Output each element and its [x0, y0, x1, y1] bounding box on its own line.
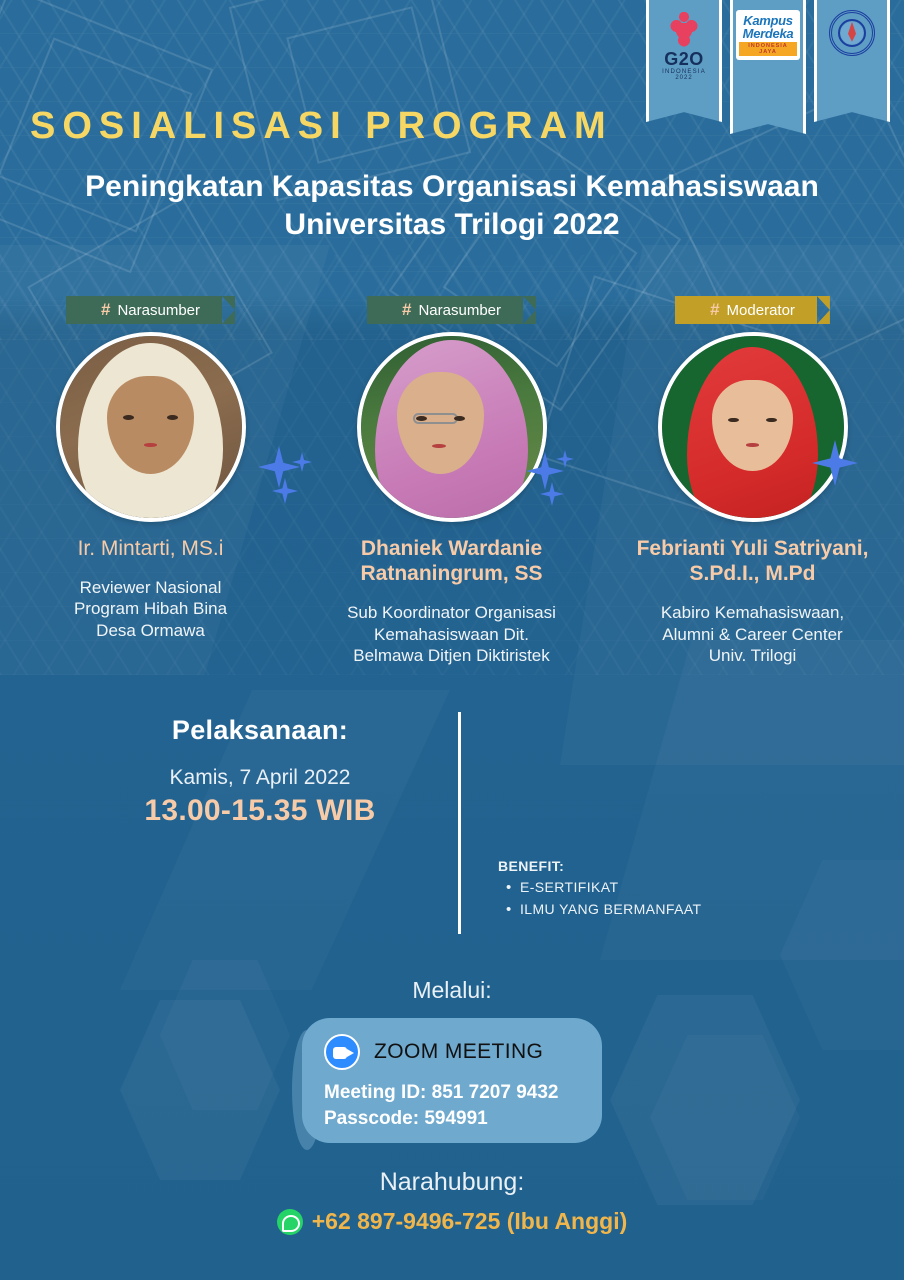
logo-ribbons: G2O INDONESIA 2022 Kampus Merdeka INDONE…	[646, 0, 904, 118]
eye-right	[766, 418, 776, 423]
schedule-date: Kamis, 7 April 2022	[60, 766, 460, 790]
speaker-1-role: Reviewer Nasional Program Hibah Bina Des…	[62, 577, 239, 641]
speaker-1-avatar	[56, 332, 246, 522]
zoom-meeting-details: Meeting ID: 851 7207 9432 Passcode: 5949…	[324, 1080, 582, 1131]
schedule-heading: Pelaksanaan:	[60, 715, 460, 746]
universitas-trilogi-seal-icon	[829, 10, 875, 56]
contact-phone-number[interactable]: +62 897-9496-725 (Ibu Anggi)	[312, 1208, 628, 1235]
page-subtitle-line1: Peningkatan Kapasitas Organisasi Kemahas…	[14, 168, 890, 206]
speaker-2-role-line2: Kemahasiswaan Dit.	[347, 624, 556, 645]
g20-logo: G2O INDONESIA 2022	[662, 10, 706, 81]
hash-icon: #	[710, 300, 719, 320]
benefit-section: BENEFIT: E-SERTIFIKAT ILMU YANG BERMANFA…	[498, 858, 701, 920]
speaker-card-2: # Narasumber Dhaniek Wardanie Ratnaningr…	[301, 296, 602, 666]
zoom-meeting-card[interactable]: ZOOM MEETING Meeting ID: 851 7207 9432 P…	[302, 1018, 602, 1143]
page-subtitle-line2: Universitas Trilogi 2022	[14, 206, 890, 244]
eye-left	[728, 418, 738, 423]
speaker-2-role-line3: Belmawa Ditjen Diktiristek	[347, 645, 556, 666]
speaker-2-name: Dhaniek Wardanie Ratnaningrum, SS	[350, 536, 552, 586]
kampus-merdeka-ribbon: Kampus Merdeka INDONESIA JAYA	[730, 0, 806, 112]
speaker-3-badge: # Moderator	[688, 296, 817, 324]
speaker-1-role-line1: Reviewer Nasional	[74, 577, 227, 598]
speaker-2-name-line1: Dhaniek Wardanie	[360, 536, 542, 561]
speaker-2-avatar	[357, 332, 547, 522]
page-title: SOSIALISASI PROGRAM	[30, 105, 650, 148]
benefit-item: E-SERTIFIKAT	[498, 877, 701, 899]
speaker-3-role-line2: Alumni & Career Center	[661, 624, 844, 645]
speaker-3-name-line1: Febrianti Yuli Satriyani,	[637, 536, 869, 561]
benefit-item: ILMU YANG BERMANFAAT	[498, 899, 701, 921]
lips-shape	[144, 443, 158, 447]
speaker-2-photo	[361, 336, 543, 518]
speaker-3-role-line1: Kabiro Kemahasiswaan,	[661, 602, 844, 623]
vertical-divider	[458, 712, 461, 934]
speaker-1-photo	[60, 336, 242, 518]
eye-left	[123, 415, 134, 420]
platform-heading: Melalui:	[0, 977, 904, 1004]
schedule-section: Pelaksanaan: Kamis, 7 April 2022 13.00-1…	[60, 715, 460, 828]
speaker-3-name-line2: S.Pd.I., M.Pd	[637, 561, 869, 586]
g20-ribbon: G2O INDONESIA 2022	[646, 0, 722, 100]
zoom-platform-label: ZOOM MEETING	[374, 1040, 543, 1064]
speaker-2-name-line2: Ratnaningrum, SS	[360, 561, 542, 586]
speaker-1-role-line2: Program Hibah Bina	[74, 598, 227, 619]
trilogi-ribbon	[814, 0, 890, 100]
speaker-2-role-line1: Sub Koordinator Organisasi	[347, 602, 556, 623]
speaker-1-badge-label: Narasumber	[117, 302, 200, 319]
speaker-3-role: Kabiro Kemahasiswaan, Alumni & Career Ce…	[649, 602, 856, 666]
speaker-3-avatar	[658, 332, 848, 522]
zoom-meeting-id[interactable]: Meeting ID: 851 7207 9432	[324, 1080, 582, 1106]
hash-icon: #	[101, 300, 110, 320]
kampus-merdeka-tagline: INDONESIA JAYA	[739, 42, 797, 56]
speaker-2-role: Sub Koordinator Organisasi Kemahasiswaan…	[335, 602, 568, 666]
speaker-card-3: # Moderator Febrianti Yuli Satriyani, S.…	[602, 296, 903, 666]
speaker-2-badge: # Narasumber	[380, 296, 523, 324]
g20-motif-icon	[667, 10, 701, 48]
whatsapp-icon[interactable]	[277, 1209, 303, 1235]
speaker-card-1: # Narasumber Ir. Mintarti, MS.i Reviewer…	[0, 296, 301, 666]
benefit-list: E-SERTIFIKAT ILMU YANG BERMANFAAT	[498, 877, 701, 920]
benefit-heading: BENEFIT:	[498, 858, 701, 874]
speaker-3-role-line3: Univ. Trilogi	[661, 645, 844, 666]
contact-row[interactable]: +62 897-9496-725 (Ibu Anggi)	[0, 1208, 904, 1235]
hash-icon: #	[402, 300, 411, 320]
speaker-3-name: Febrianti Yuli Satriyani, S.Pd.I., M.Pd	[627, 536, 879, 586]
kampus-merdeka-line2: Merdeka	[739, 28, 797, 41]
lips-shape	[746, 443, 759, 447]
zoom-title-row: ZOOM MEETING	[324, 1034, 582, 1070]
g20-logo-text: G2O	[662, 50, 706, 68]
speakers-section: # Narasumber Ir. Mintarti, MS.i Reviewer…	[0, 296, 904, 666]
g20-logo-year: 2022	[662, 75, 706, 81]
kampus-merdeka-logo: Kampus Merdeka INDONESIA JAYA	[736, 10, 800, 60]
speaker-1-badge: # Narasumber	[79, 296, 222, 324]
zoom-camera-icon	[324, 1034, 360, 1070]
speaker-3-badge-label: Moderator	[727, 302, 795, 319]
eye-right	[454, 416, 465, 421]
poster-canvas: G2O INDONESIA 2022 Kampus Merdeka INDONE…	[0, 0, 904, 1280]
zoom-passcode[interactable]: Passcode: 594991	[324, 1106, 582, 1132]
eye-right	[167, 415, 178, 420]
speaker-1-name: Ir. Mintarti, MS.i	[68, 536, 234, 561]
lips-shape	[432, 444, 446, 448]
page-subtitle: Peningkatan Kapasitas Organisasi Kemahas…	[0, 168, 904, 245]
speaker-3-photo	[662, 336, 844, 518]
speaker-2-badge-label: Narasumber	[418, 302, 501, 319]
contact-heading: Narahubung:	[0, 1168, 904, 1197]
schedule-time: 13.00-15.35 WIB	[60, 794, 460, 828]
speaker-1-role-line3: Desa Ormawa	[74, 620, 227, 641]
